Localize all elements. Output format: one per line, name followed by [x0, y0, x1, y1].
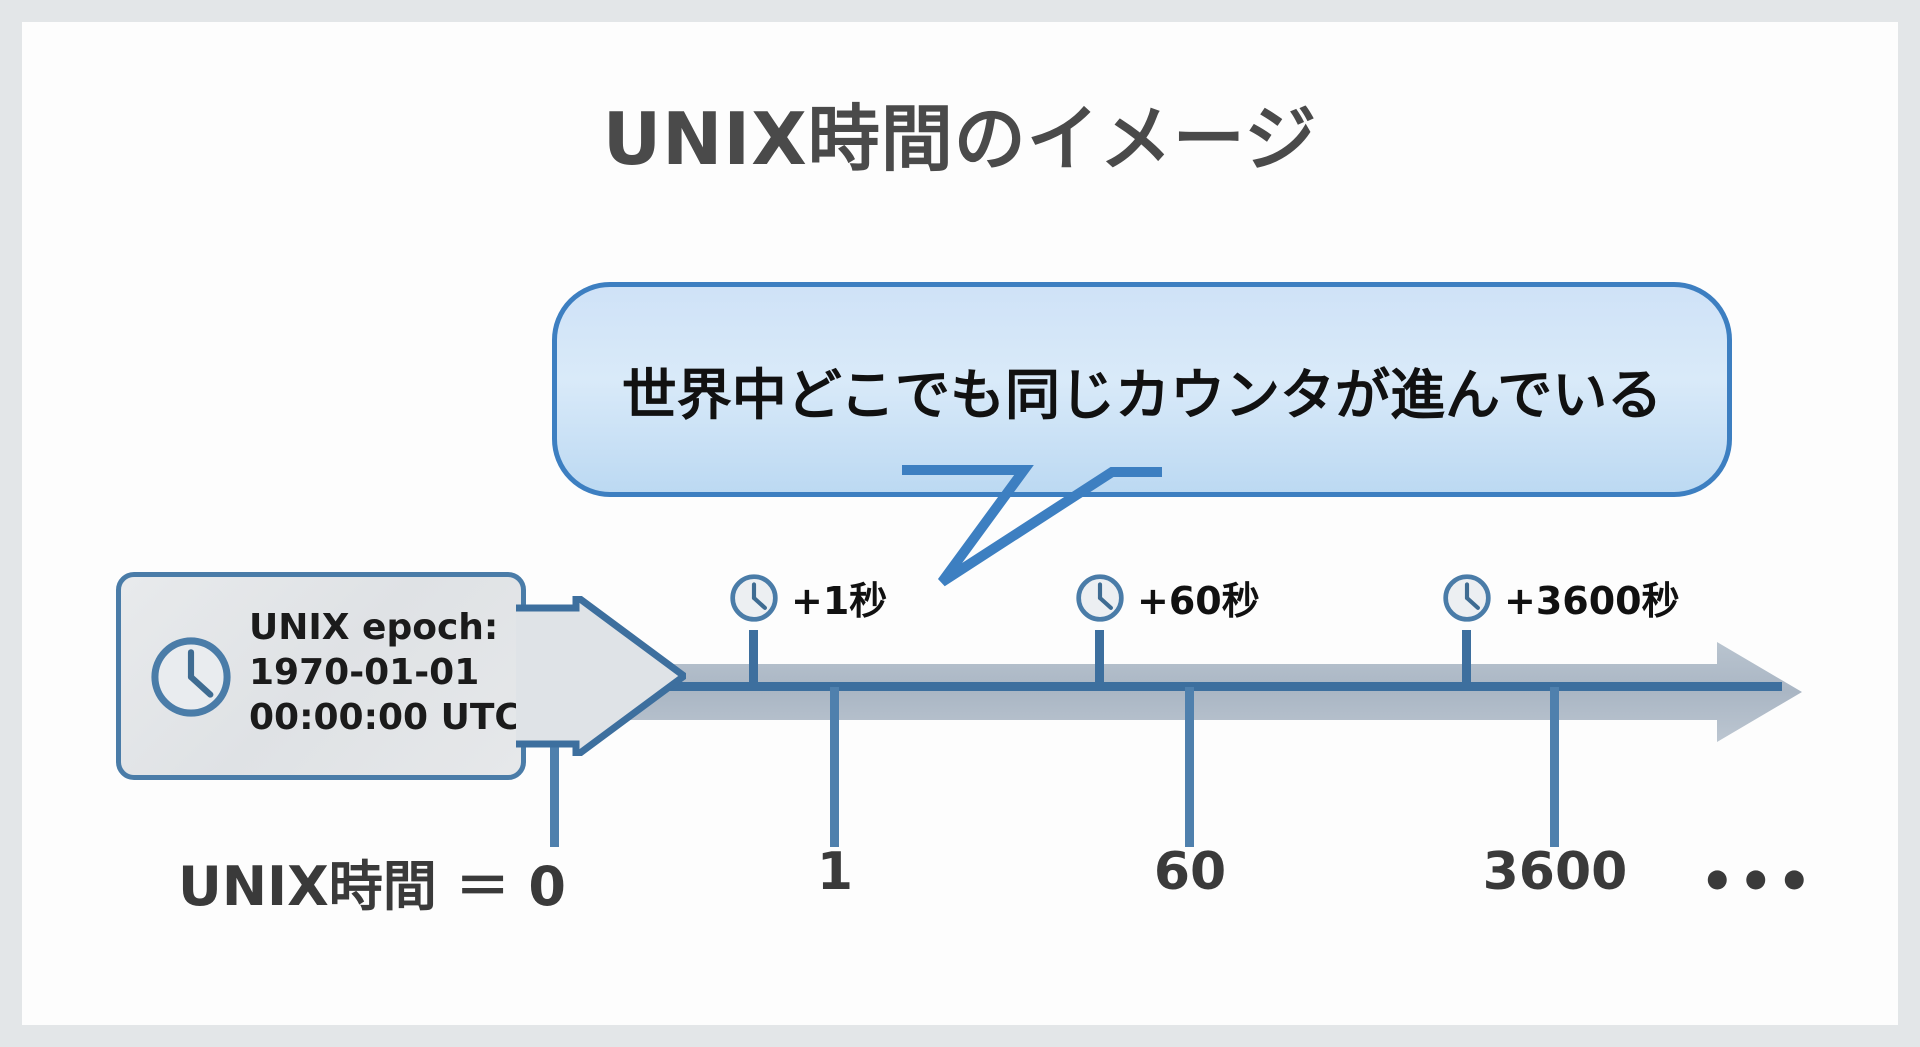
tick-down-1	[830, 687, 839, 847]
unix-epoch-box: UNIX epoch: 1970-01-01 00:00:00 UTC	[116, 572, 526, 780]
clock-icon	[147, 633, 235, 721]
slide-canvas: UNIX時間のイメージ 世界中どこでも同じカウンタが進んでいる	[22, 22, 1898, 1025]
timeline-center-line	[542, 682, 1782, 691]
marker-plus-3600sec: +3600秒	[1441, 570, 1680, 625]
axis-label-1: 1	[735, 842, 935, 902]
epoch-pointer-arrow-icon	[516, 596, 686, 756]
tick-down-3600	[1550, 687, 1559, 847]
timeline-arrow-band	[522, 642, 1802, 742]
marker-label: +60秒	[1137, 570, 1260, 625]
axis-label-epoch: UNIX時間 ＝ 0	[142, 842, 602, 921]
page-title: UNIX時間のイメージ	[22, 80, 1898, 185]
tick-down-60	[1185, 687, 1194, 847]
axis-label-3600: 3600	[1430, 842, 1680, 902]
clock-icon	[728, 572, 780, 624]
axis-ellipsis: •••	[1700, 850, 1816, 913]
epoch-text-block: UNIX epoch: 1970-01-01 00:00:00 UTC	[249, 605, 521, 740]
marker-label: +3600秒	[1504, 570, 1680, 625]
axis-label-60: 60	[1090, 842, 1290, 902]
tick-up-60	[1095, 630, 1104, 688]
tick-up-3600	[1462, 630, 1471, 688]
epoch-line-3: 00:00:00 UTC	[249, 695, 521, 740]
clock-icon	[1441, 572, 1493, 624]
marker-plus-1sec: +1秒	[728, 570, 887, 625]
marker-label: +1秒	[791, 570, 887, 625]
tick-up-1	[749, 630, 758, 688]
epoch-line-1: UNIX epoch:	[249, 605, 521, 650]
clock-icon	[1074, 572, 1126, 624]
marker-plus-60sec: +60秒	[1074, 570, 1260, 625]
epoch-line-2: 1970-01-01	[249, 650, 521, 695]
